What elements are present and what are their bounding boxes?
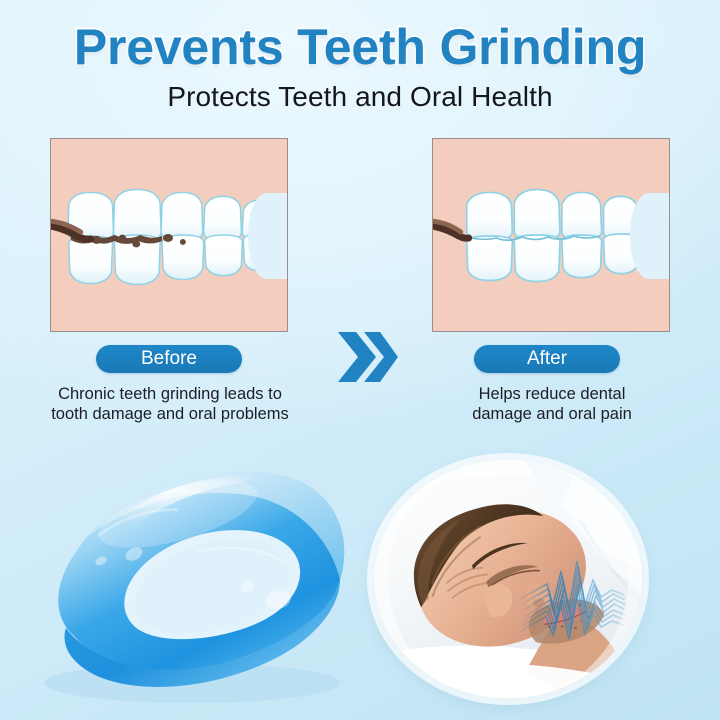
- mouth-opening-notch: [630, 193, 670, 279]
- double-chevron-right-icon: [336, 326, 400, 388]
- header: Prevents Teeth Grinding Protects Teeth a…: [0, 0, 720, 113]
- page-title: Prevents Teeth Grinding: [0, 20, 720, 74]
- before-teeth-image: [50, 138, 288, 332]
- sleeping-man-illustration: [374, 460, 642, 698]
- product-image-mouthguard: [2, 440, 362, 720]
- caption-after: Helps reduce dental damage and oral pain: [396, 384, 708, 424]
- page-subtitle: Protects Teeth and Oral Health: [0, 81, 720, 113]
- badge-after: After: [474, 345, 620, 373]
- after-teeth-image: [432, 138, 670, 332]
- before-after-comparison: [0, 138, 720, 338]
- sleeping-man-photo: [374, 460, 642, 698]
- mouth-opening-notch: [248, 193, 288, 279]
- caption-before: Chronic teeth grinding leads to tooth da…: [14, 384, 326, 424]
- product-infographic: Prevents Teeth Grinding Protects Teeth a…: [0, 0, 720, 720]
- badge-before: Before: [96, 345, 242, 373]
